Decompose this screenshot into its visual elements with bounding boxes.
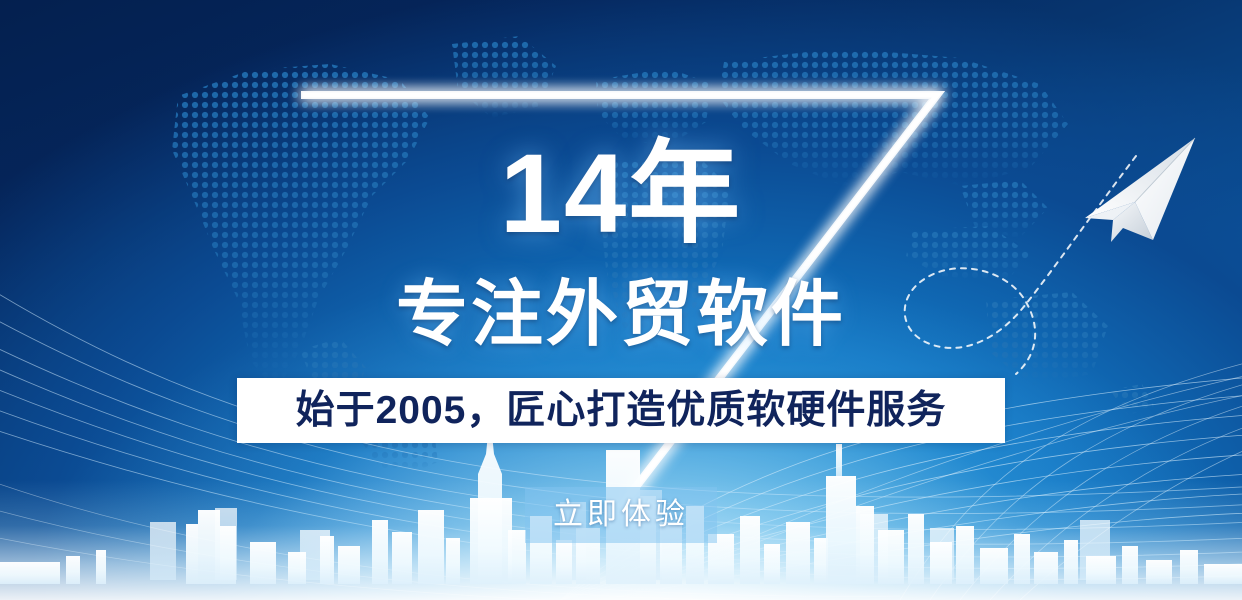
subtitle-bar: 始于2005，匠心打造优质软硬件服务	[237, 378, 1005, 443]
banner-content: 14年 专注外贸软件 始于2005，匠心打造优质软硬件服务 立即体验	[0, 0, 1242, 600]
subtitle-text: 始于2005，匠心打造优质软硬件服务	[296, 390, 947, 432]
headline-slogan: 专注外贸软件	[0, 278, 1242, 352]
headline-years: 14年	[0, 138, 1242, 250]
promo-banner: 14年 专注外贸软件 始于2005，匠心打造优质软硬件服务 立即体验	[0, 0, 1242, 600]
cta-button[interactable]: 立即体验	[525, 487, 717, 543]
cta-label: 立即体验	[553, 499, 689, 531]
